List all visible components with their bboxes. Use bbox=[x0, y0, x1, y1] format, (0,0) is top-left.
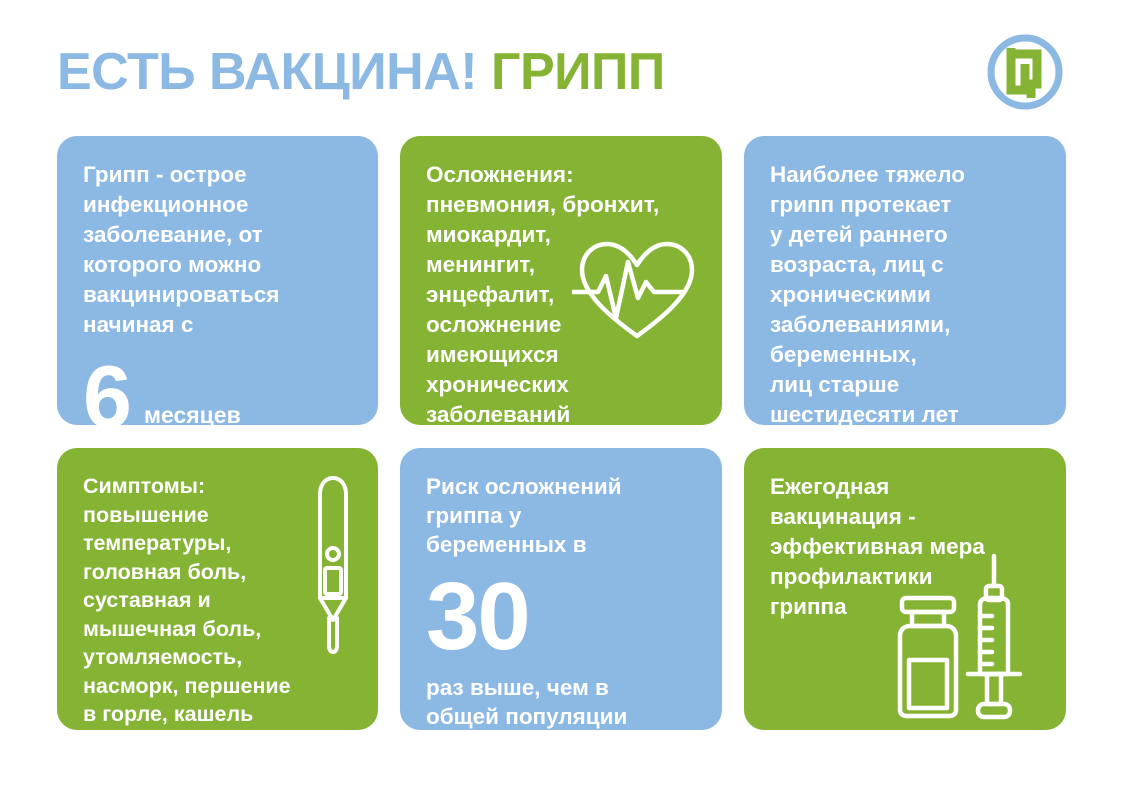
big-number-row: 6 месяцев bbox=[83, 360, 356, 425]
cards-grid: Грипп - острое инфекционное заболевание,… bbox=[57, 136, 1065, 730]
big-number-row: 30 bbox=[426, 575, 700, 659]
card-risk-groups: Наиболее тяжело грипп протекает у детей … bbox=[744, 136, 1066, 425]
big-number-unit: месяцев bbox=[130, 400, 241, 425]
card-text: Наиболее тяжело грипп протекает у детей … bbox=[770, 160, 1044, 425]
title-part-blue: ЕСТЬ ВАКЦИНА! bbox=[57, 43, 477, 101]
card-text: Ежегодная вакцинация - эффективная мера … bbox=[770, 472, 1044, 622]
clinic-monogram-logo bbox=[985, 32, 1065, 112]
title-part-green: ГРИПП bbox=[491, 43, 665, 101]
card-text: Риск осложнений гриппа у беременных в bbox=[426, 472, 700, 559]
big-number: 30 bbox=[426, 575, 529, 659]
infographic-poster: ЕСТЬ ВАКЦИНА! ГРИПП Грипп - острое инфек… bbox=[0, 0, 1122, 793]
poster-header: ЕСТЬ ВАКЦИНА! ГРИПП bbox=[57, 36, 1065, 116]
page-title: ЕСТЬ ВАКЦИНА! ГРИПП bbox=[57, 36, 665, 108]
card-symptoms: Симптомы: повышение температуры, головна… bbox=[57, 448, 378, 730]
card-vaccination-age: Грипп - острое инфекционное заболевание,… bbox=[57, 136, 378, 425]
card-annual-vaccination: Ежегодная вакцинация - эффективная мера … bbox=[744, 448, 1066, 730]
card-pregnancy-risk: Риск осложнений гриппа у беременных в 30… bbox=[400, 448, 722, 730]
card-text: Грипп - острое инфекционное заболевание,… bbox=[83, 160, 356, 340]
card-complications: Осложнения: пневмония, бронхит, миокарди… bbox=[400, 136, 722, 425]
card-text: Симптомы: повышение температуры, головна… bbox=[83, 472, 356, 729]
big-number: 6 bbox=[83, 360, 130, 425]
card-text: Осложнения: пневмония, бронхит, миокарди… bbox=[426, 160, 700, 425]
card-text-after-number: раз выше, чем в общей популяции bbox=[426, 673, 700, 730]
